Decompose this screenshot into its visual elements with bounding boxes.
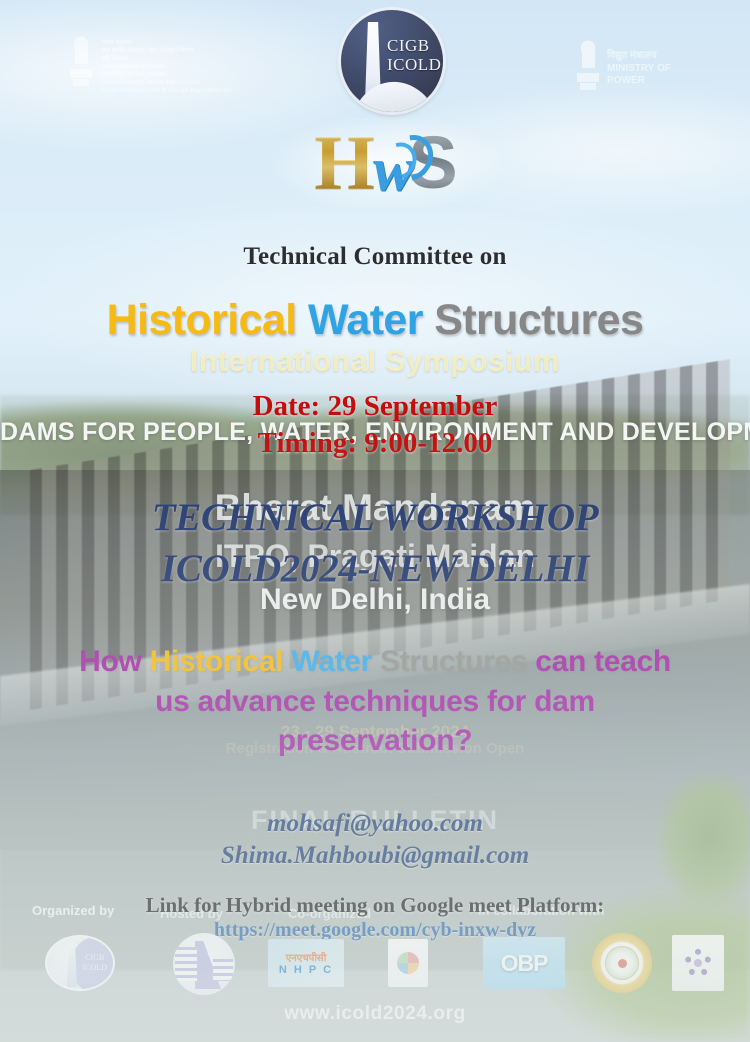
ashoka-emblem-icon [68, 36, 94, 92]
icold-logo-line-1: CIGB [387, 36, 441, 55]
emblem-line: Ministry of Jal Shakti [101, 71, 231, 79]
footer-logo-obp: OBP [483, 937, 565, 989]
hws-wordmark-icon: H w S [272, 118, 500, 208]
footer-logo-cigb-icold: CIGB ICOLD [45, 935, 115, 991]
footer-logo-partner-4 [388, 939, 428, 987]
obp-label: OBP [501, 950, 548, 977]
dam-stripes-icon [213, 959, 233, 981]
gold-seal-inner-icon [605, 946, 639, 980]
emblem-line: नदी विकास [101, 55, 231, 63]
committee-prefix: Technical Committee on [0, 243, 750, 271]
contact-emails: mohsafi@yahoo.com Shima.Mahboubi@gmail.c… [0, 808, 750, 872]
footer-logo-gold-seal [592, 933, 652, 993]
workshop-line-2: ICOLD2024-NEW DELHI [0, 543, 750, 594]
question-word-historical: Historical [150, 645, 292, 678]
question-how: How [79, 645, 149, 678]
emblem-line: Government of India [101, 63, 231, 71]
icold-logo-line-2: ICOLD [387, 55, 441, 74]
emblem-line: POWER [607, 75, 671, 88]
footer-cigb-text: CIGB ICOLD [83, 953, 107, 972]
contact-email-1[interactable]: mohsafi@yahoo.com [0, 808, 750, 840]
emblem-line: Department of Water Resources, [101, 79, 231, 87]
question-tail: can teach [535, 645, 671, 678]
icold-arc-shape [344, 76, 440, 112]
title-word-historical: Historical [107, 296, 297, 344]
workshop-question: How Historical Water Structures can teac… [0, 642, 750, 761]
footer-logo-strip: CIGB ICOLD एनएचपीसी N H P C OBP [0, 925, 750, 1005]
conference-poster: International Symposium DAMS FOR PEOPLE,… [0, 0, 750, 1042]
ministry-jal-shakti-emblem: भारत सरकार जल शक्ति मंत्रालय, जल संसाधन … [68, 36, 298, 98]
emblem-line: भारत सरकार [101, 39, 231, 47]
ministry-of-power-text: विद्युत मंत्रालय MINISTRY OF POWER [607, 40, 671, 98]
footer-logo-partner-7 [672, 935, 724, 991]
title-word-structures: Structures [434, 296, 643, 344]
workshop-heading: TECHNICAL WORKSHOP ICOLD2024-NEW DELHI [0, 492, 750, 595]
hws-letter-h: H [314, 124, 375, 202]
meeting-link-label: Link for Hybrid meeting on Google meet P… [0, 893, 750, 918]
footer-logo-cwc-dam [173, 933, 235, 995]
emblem-line: MINISTRY OF [607, 63, 671, 76]
ashoka-emblem-icon [575, 40, 601, 96]
partner-7-mark-icon [684, 949, 712, 977]
emblem-line: विद्युत मंत्रालय [607, 50, 671, 63]
emblem-line: River Development & Ganga Rejuvenation [101, 87, 231, 95]
question-line-3: preservation? [0, 721, 750, 761]
question-line-1: How Historical Water Structures can teac… [0, 642, 750, 682]
event-timing: Timing: 9:00-12.00 [0, 425, 750, 462]
event-date: Date: 29 September [0, 388, 750, 425]
question-word-water: Water [291, 645, 380, 678]
page-title: Historical Water Structures [0, 296, 750, 345]
icold-dam-roundel-icon: CIGB ICOLD [341, 10, 443, 112]
footer-cigb-line-1: CIGB [83, 953, 107, 963]
icold-logo-text: CIGB ICOLD [387, 36, 441, 74]
question-line-2: us advance techniques for dam [0, 682, 750, 722]
footer-logo-nhpc: एनएचपीसी N H P C [268, 939, 344, 987]
emblem-line: जल शक्ति मंत्रालय, जल संसाधन विभाग [101, 47, 231, 55]
contact-email-2[interactable]: Shima.Mahboubi@gmail.com [0, 840, 750, 872]
ministry-jal-shakti-text: भारत सरकार जल शक्ति मंत्रालय, जल संसाधन … [101, 36, 231, 98]
ministry-of-power-emblem: विद्युत मंत्रालय MINISTRY OF POWER [575, 40, 725, 98]
date-time-block: Date: 29 September Timing: 9:00-12.00 [0, 388, 750, 462]
footer-cigb-line-2: ICOLD [83, 963, 107, 973]
question-word-structures: Structures [380, 645, 535, 678]
workshop-line-1: TECHNICAL WORKSHOP [0, 492, 750, 543]
nhpc-hindi-text: एनएचपीसी [286, 950, 327, 964]
partner-4-mark-icon [397, 952, 419, 974]
nhpc-english-text: N H P C [279, 964, 333, 976]
title-word-water: Water [308, 296, 423, 344]
